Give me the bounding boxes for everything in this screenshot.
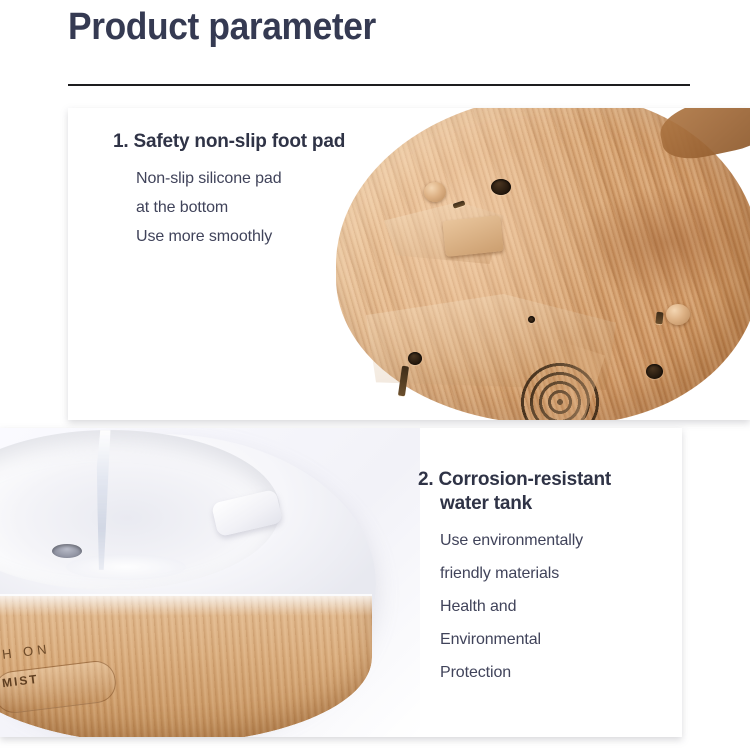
base-highlight bbox=[0, 594, 372, 616]
section-2-line-2: friendly materials bbox=[440, 557, 668, 590]
page-title: Product parameter bbox=[68, 6, 376, 49]
section-1-heading: 1. Safety non-slip foot pad bbox=[113, 130, 423, 154]
section-card-2: H ON MIST 2. Corrosion-resistant water t… bbox=[0, 428, 682, 737]
base-vent-slot bbox=[655, 312, 663, 325]
section-2-body: Use environmentally friendly materials H… bbox=[440, 524, 668, 689]
section-2-line-3: Health and bbox=[440, 590, 668, 623]
section-2-line-5: Protection bbox=[440, 656, 668, 689]
section-2-heading-line-2: water tank bbox=[440, 492, 668, 516]
screw-hole bbox=[491, 179, 511, 195]
section-1-body: Non-slip silicone pad at the bottom Use … bbox=[136, 164, 423, 251]
product-parameter-page: Product parameter 1. Safety non-slip foo… bbox=[0, 0, 750, 750]
section-2-heading-line-1: 2. Corrosion-resistant bbox=[418, 468, 668, 492]
section-1-line-2: at the bottom bbox=[136, 193, 423, 222]
section-1-line-3: Use more smoothly bbox=[136, 222, 423, 251]
section-card-1: 1. Safety non-slip foot pad Non-slip sil… bbox=[68, 108, 750, 420]
water-tank-photo: H ON MIST bbox=[0, 428, 420, 737]
section-1-text-block: 1. Safety non-slip foot pad Non-slip sil… bbox=[113, 130, 423, 251]
water-surface bbox=[66, 554, 186, 580]
section-1-line-1: Non-slip silicone pad bbox=[136, 164, 423, 193]
screw-hole bbox=[528, 316, 535, 323]
base-tab-block bbox=[442, 215, 503, 257]
section-2-text-block: 2. Corrosion-resistant water tank Use en… bbox=[418, 468, 668, 689]
section-2-line-1: Use environmentally bbox=[440, 524, 668, 557]
silicone-foot-pad bbox=[666, 304, 690, 325]
silicone-foot-pad bbox=[424, 182, 446, 202]
screw-hole bbox=[408, 352, 422, 365]
section-2-line-4: Environmental bbox=[440, 623, 668, 656]
tank-drain-hole bbox=[52, 544, 82, 558]
page-header: Product parameter bbox=[0, 0, 750, 96]
screw-hole bbox=[646, 364, 663, 379]
title-divider bbox=[68, 84, 690, 86]
